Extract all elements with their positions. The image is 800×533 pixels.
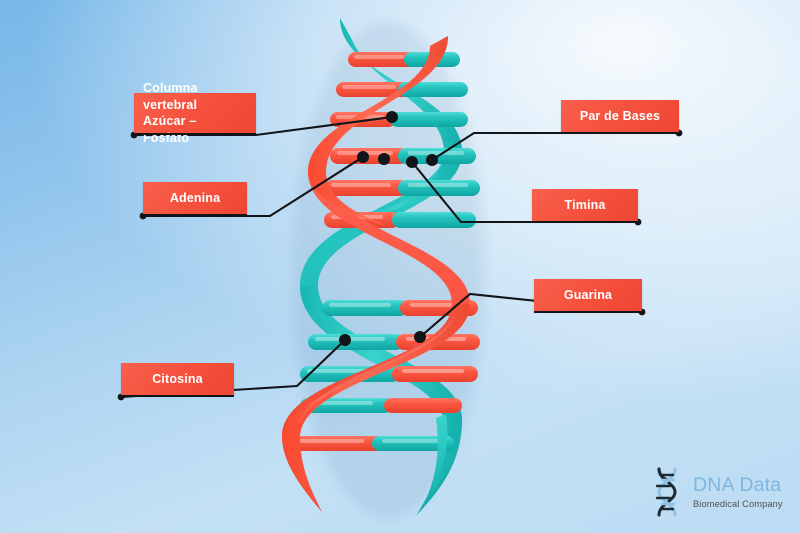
label-citosina[interactable]: Citosina bbox=[121, 363, 234, 395]
label-timina[interactable]: Timina bbox=[532, 189, 638, 221]
brand-logo[interactable]: DNA Data Biomedical Company bbox=[648, 463, 794, 521]
leader-dot-extra bbox=[378, 153, 390, 165]
label-par-de-bases[interactable]: Par de Bases bbox=[561, 100, 679, 132]
leader-dot-adenina bbox=[357, 151, 369, 163]
leader-dot-citosina bbox=[339, 334, 351, 346]
label-columna-vertebral[interactable]: Columna vertebral Azúcar – Fosfato bbox=[134, 93, 256, 133]
logo-title: DNA Data bbox=[693, 475, 783, 495]
leader-dot-backbone bbox=[386, 111, 398, 123]
logo-subtitle: Biomedical Company bbox=[693, 499, 783, 509]
diagram-canvas: Columna vertebral Azúcar – Fosfato Adeni… bbox=[0, 0, 800, 533]
leader-dot-par-bases bbox=[426, 154, 438, 166]
label-adenina[interactable]: Adenina bbox=[143, 182, 247, 214]
dna-illustration bbox=[0, 0, 800, 533]
logo-text-block: DNA Data Biomedical Company bbox=[693, 475, 783, 508]
leader-dot-timina bbox=[406, 156, 418, 168]
label-guarina[interactable]: Guarina bbox=[534, 279, 642, 311]
dna-helix-icon bbox=[648, 466, 686, 518]
leader-dot-guarina bbox=[414, 331, 426, 343]
